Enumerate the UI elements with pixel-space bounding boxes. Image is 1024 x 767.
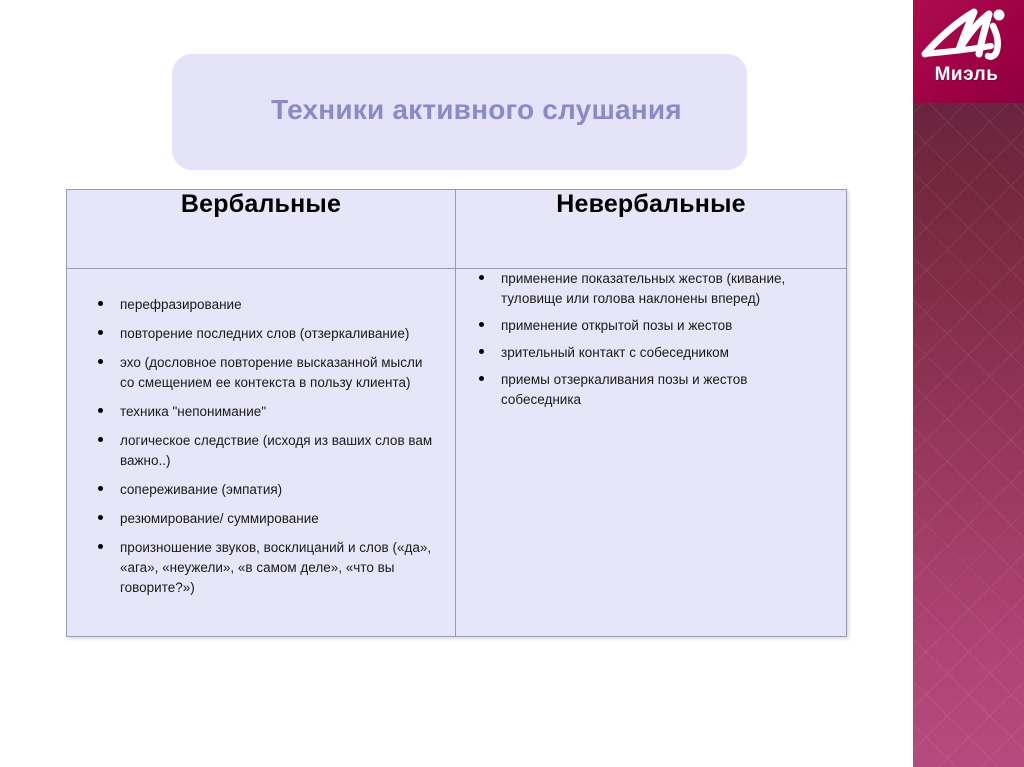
slide-canvas: Миэль Техники активного слушания Вербаль… — [0, 0, 1024, 767]
list-item: приемы отзеркаливания позы и жестов собе… — [475, 370, 826, 410]
verbal-technique-list: перефразирование повторение последних сл… — [67, 269, 455, 598]
nonverbal-technique-list: применение показательных жестов (кивание… — [456, 269, 846, 410]
cell-verbal-techniques: перефразирование повторение последних сл… — [67, 269, 456, 637]
page-title: Техники активного слушания — [237, 94, 682, 130]
column-header-verbal: Вербальные — [67, 190, 456, 269]
column-header-nonverbal: Невербальные — [456, 190, 847, 269]
cell-nonverbal-techniques: применение показательных жестов (кивание… — [456, 269, 847, 637]
list-item: повторение последних слов (отзеркаливани… — [94, 324, 439, 344]
list-item: эхо (дословное повторение высказанной мы… — [94, 353, 439, 393]
list-item: зрительный контакт с собеседником — [475, 343, 826, 363]
techniques-table: Вербальные Невербальные перефразирование… — [66, 189, 847, 637]
table-body-row: перефразирование повторение последних сл… — [67, 269, 847, 637]
brand-logo-block: Миэль — [913, 0, 1024, 103]
list-item: применение открытой позы и жестов — [475, 316, 826, 336]
slide-title-banner: Техники активного слушания — [172, 54, 747, 170]
column-header-nonverbal-label: Невербальные — [556, 190, 746, 218]
list-item: перефразирование — [94, 295, 439, 315]
list-item: логическое следствие (исходя из ваших сл… — [94, 431, 439, 471]
brand-texture-overlay — [913, 0, 1024, 767]
list-item: резюмирование/ суммирование — [94, 509, 439, 529]
list-item: сопереживание (эмпатия) — [94, 480, 439, 500]
column-header-verbal-label: Вербальные — [181, 190, 341, 218]
list-item: применение показательных жестов (кивание… — [475, 269, 826, 309]
miel-script-m-logo-icon — [919, 4, 1019, 70]
table-header-row: Вербальные Невербальные — [67, 190, 847, 269]
brand-logo-wordmark: Миэль — [913, 64, 1024, 86]
list-item: техника "непонимание" — [94, 402, 439, 422]
list-item: произношение звуков, восклицаний и слов … — [94, 538, 439, 598]
brand-sidebar: Миэль — [913, 0, 1024, 767]
